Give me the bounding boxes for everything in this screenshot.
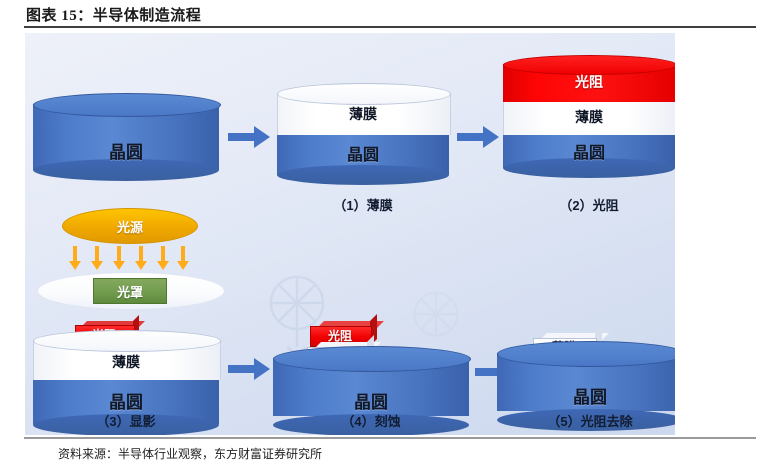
figure-title: 图表 15：半导体制造流程 — [26, 4, 201, 25]
source-divider — [24, 437, 756, 439]
light-source-label: 光源 — [117, 217, 143, 236]
diagram-canvas: 晶圆 薄膜 晶圆 （1）薄膜 — [25, 33, 675, 435]
flow-arrow-1 — [228, 126, 270, 153]
step-caption-3: （3）显影 — [33, 411, 219, 430]
stage-resist: 光阻 薄膜 晶圆 — [503, 55, 675, 187]
step-caption-5: （5）光阻去除 — [497, 411, 675, 430]
light-source-ellipse: 光源 — [62, 208, 198, 244]
title-divider — [24, 26, 756, 28]
figure-page: 图表 15：半导体制造流程 — [0, 0, 780, 467]
figure-source: 资料来源：半导体行业观察，东方财富证券研究所 — [58, 445, 322, 462]
photomask-box: 光罩 — [93, 278, 167, 304]
photomask-label: 光罩 — [117, 282, 143, 301]
step-caption-1: （1）薄膜 — [277, 195, 449, 214]
step-caption-4: （4）刻蚀 — [273, 411, 469, 430]
flow-arrow-2 — [457, 126, 499, 153]
stage-wafer: 晶圆 — [33, 93, 219, 181]
flow-arrow-3 — [228, 358, 270, 385]
stage-film: 薄膜 晶圆 — [277, 83, 449, 187]
step-caption-2: （2）光阻 — [503, 195, 675, 214]
